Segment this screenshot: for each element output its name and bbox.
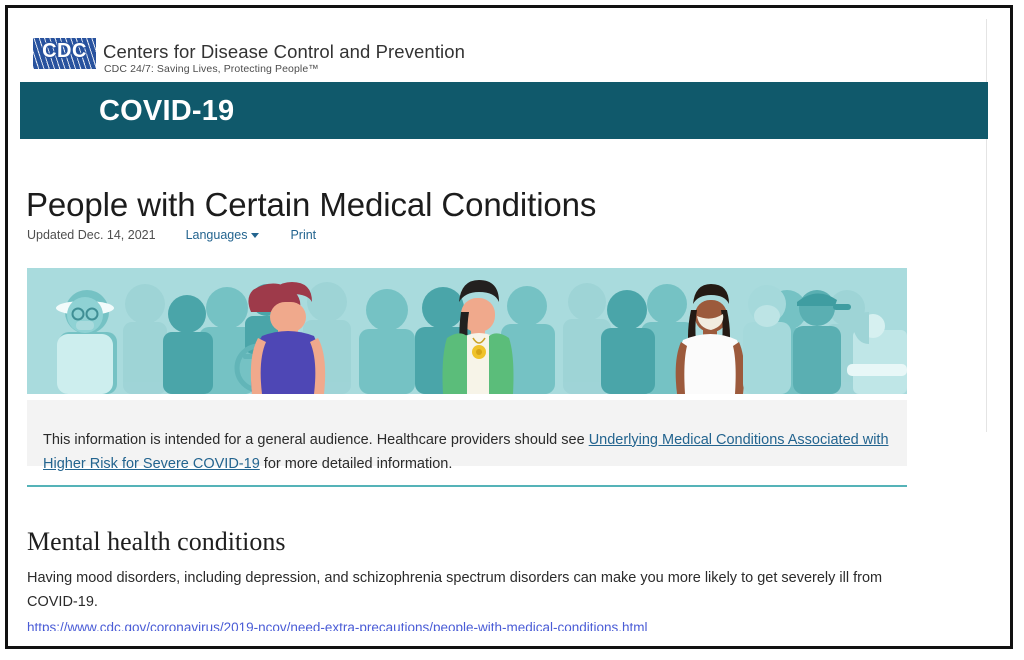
cdc-logo-text: CDC [33, 40, 96, 63]
section-heading-mental-health: Mental health conditions [27, 527, 286, 557]
source-url-link[interactable]: https://www.cdc.gov/coronavirus/2019-nco… [27, 620, 648, 631]
covid-banner-title: COVID-19 [99, 95, 234, 128]
info-callout-box: This information is intended for a gener… [27, 400, 907, 466]
header-right-divider [986, 19, 987, 432]
updated-date: Updated Dec. 14, 2021 [27, 228, 156, 242]
hero-illustration-graphic [27, 268, 907, 394]
print-link[interactable]: Print [290, 228, 316, 242]
hero-illustration [27, 268, 907, 394]
agency-name: Centers for Disease Control and Preventi… [103, 41, 465, 63]
section-body-text: Having mood disorders, including depress… [27, 566, 889, 614]
languages-dropdown[interactable]: Languages [186, 228, 260, 242]
screenshot-frame: CDC Centers for Disease Control and Prev… [5, 5, 1013, 649]
info-text-after: for more detailed information. [260, 456, 453, 472]
cdc-site-header: CDC Centers for Disease Control and Prev… [20, 19, 988, 80]
info-callout-text: This information is intended for a gener… [43, 428, 889, 476]
info-text-before: This information is intended for a gener… [43, 432, 589, 448]
languages-label: Languages [186, 228, 248, 242]
chevron-down-icon [251, 233, 259, 238]
section-divider [27, 485, 907, 487]
agency-tagline: CDC 24/7: Saving Lives, Protecting Peopl… [104, 63, 319, 75]
page-title: People with Certain Medical Conditions [26, 186, 596, 224]
page-meta-row: Updated Dec. 14, 2021 Languages Print [27, 225, 316, 245]
page-canvas: CDC Centers for Disease Control and Prev… [20, 19, 988, 631]
cdc-logo[interactable]: CDC [33, 38, 96, 69]
covid-banner[interactable]: COVID-19 [20, 82, 988, 139]
